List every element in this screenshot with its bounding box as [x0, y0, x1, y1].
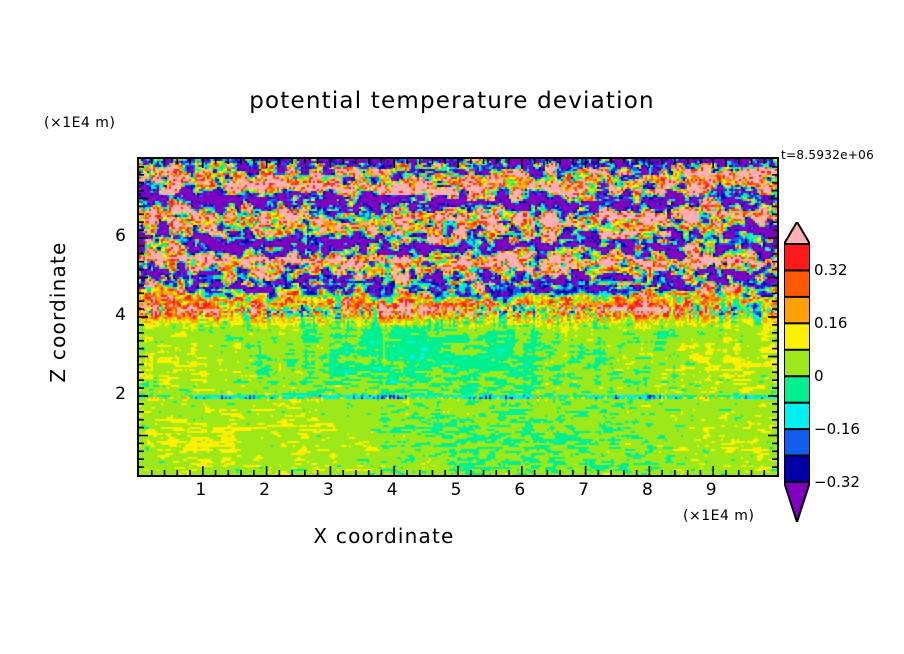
- colorbar-tick-label: −0.32: [814, 473, 860, 491]
- x-tick-label: 1: [195, 480, 206, 500]
- x-tick-label: 8: [642, 480, 653, 500]
- contour-plot: [137, 157, 779, 477]
- colorbar-tick-label: 0.32: [814, 261, 847, 279]
- x-tick-labels: 123456789: [137, 480, 775, 504]
- x-tick-label: 6: [514, 480, 525, 500]
- contour-canvas: [139, 159, 777, 475]
- page-title: potential temperature deviation: [0, 88, 904, 114]
- colorbar: [784, 222, 810, 522]
- x-tick-label: 5: [451, 480, 462, 500]
- y-tick-label: 2: [96, 384, 126, 404]
- colorbar-tick-label: −0.16: [814, 420, 860, 438]
- x-axis-unit: (×1E4 m): [683, 508, 754, 524]
- colorbar-tick-label: 0: [814, 367, 824, 385]
- x-tick-label: 3: [323, 480, 334, 500]
- y-tick-labels: 246: [96, 157, 130, 473]
- timestamp-label: t=8.5932e+06: [781, 148, 874, 162]
- x-tick-label: 2: [259, 480, 270, 500]
- x-axis-title: X coordinate: [0, 524, 768, 548]
- x-tick-label: 7: [578, 480, 589, 500]
- y-tick-label: 4: [96, 305, 126, 325]
- x-tick-label: 9: [706, 480, 717, 500]
- y-tick-label: 6: [96, 226, 126, 246]
- x-tick-label: 4: [387, 480, 398, 500]
- colorbar-tick-label: 0.16: [814, 314, 847, 332]
- y-axis-unit: (×1E4 m): [44, 115, 115, 131]
- y-axis-title: Z coordinate: [46, 212, 70, 412]
